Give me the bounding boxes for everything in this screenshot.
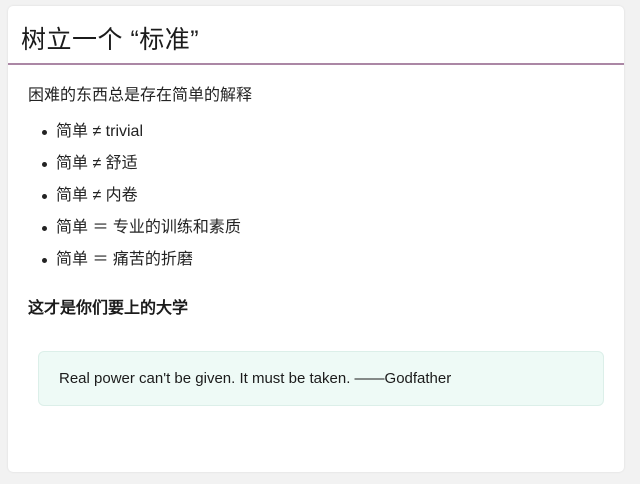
slide-card: 树立一个 “标准” 困难的东西总是存在简单的解释 简单 ≠ trivial 简单… <box>8 6 624 472</box>
bullet-dot-icon <box>42 194 47 199</box>
list-item-label: 简单 ＝ 专业的训练和素质 <box>56 219 241 236</box>
list-item: 简单 ＝ 痛苦的折磨 <box>28 244 241 276</box>
title-divider <box>8 63 624 65</box>
list-item: 简单 ＝ 专业的训练和素质 <box>28 212 241 244</box>
bullet-dot-icon <box>42 226 47 231</box>
page-title: 树立一个 “标准” <box>21 20 199 56</box>
emphasis-text: 这才是你们要上的大学 <box>28 294 188 318</box>
list-item-label: 简单 ≠ 舒适 <box>56 155 138 172</box>
quote-callout: Real power can't be given. It must be ta… <box>38 351 604 406</box>
list-item-label: 简单 ≠ 内卷 <box>56 187 138 204</box>
bullet-dot-icon <box>42 258 47 263</box>
list-item: 简单 ≠ trivial <box>28 116 241 148</box>
list-item-label: 简单 ≠ trivial <box>56 123 143 140</box>
list-item-label: 简单 ＝ 痛苦的折磨 <box>56 251 193 268</box>
quote-text: Real power can't be given. It must be ta… <box>39 370 451 387</box>
list-item: 简单 ≠ 舒适 <box>28 148 241 180</box>
intro-text: 困难的东西总是存在简单的解释 <box>28 81 252 105</box>
bullet-list: 简单 ≠ trivial 简单 ≠ 舒适 简单 ≠ 内卷 简单 ＝ 专业的训练和… <box>28 116 241 276</box>
bullet-dot-icon <box>42 162 47 167</box>
bullet-dot-icon <box>42 130 47 135</box>
list-item: 简单 ≠ 内卷 <box>28 180 241 212</box>
